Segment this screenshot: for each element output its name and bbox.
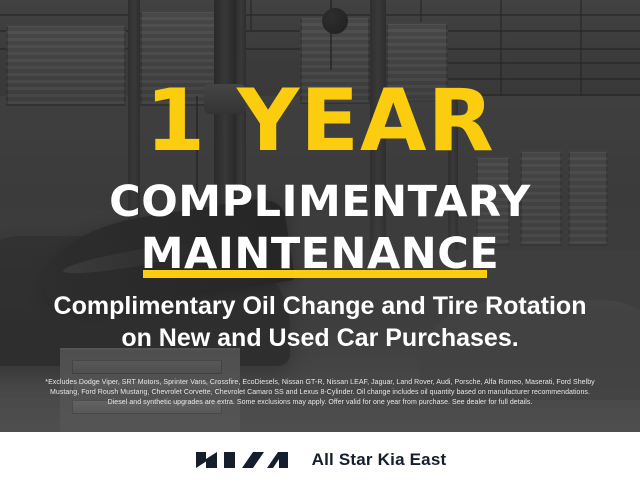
hero-section: 1 YEAR COMPLIMENTARY MAINTENANCE Complim…: [0, 0, 640, 432]
dealer-name: All Star Kia East: [312, 450, 447, 470]
hero-copy: 1 YEAR COMPLIMENTARY MAINTENANCE Complim…: [0, 0, 640, 432]
disclaimer-line-1: *Excludes Dodge Viper, SRT Motors, Sprin…: [14, 378, 626, 388]
headline-offer-line-1: COMPLIMENTARY: [0, 176, 640, 228]
disclaimer-text: *Excludes Dodge Viper, SRT Motors, Sprin…: [14, 378, 626, 408]
promo-description: Complimentary Oil Change and Tire Rotati…: [0, 290, 640, 354]
headline-offer: COMPLIMENTARY MAINTENANCE: [0, 176, 640, 280]
footer-bar: All Star Kia East: [0, 432, 640, 488]
disclaimer-line-2: Mustang, Ford Roush Mustang, Chevrolet C…: [14, 388, 626, 398]
kia-logo: [194, 448, 290, 472]
promo-description-line-2: on New and Used Car Purchases.: [0, 322, 640, 354]
promo-banner: 1 YEAR COMPLIMENTARY MAINTENANCE Complim…: [0, 0, 640, 488]
disclaimer-line-3: Diesel and synthetic upgrades are extra.…: [14, 398, 626, 408]
promo-description-line-1: Complimentary Oil Change and Tire Rotati…: [54, 292, 587, 320]
headline-duration: 1 YEAR: [0, 78, 640, 164]
yellow-divider-rule: [143, 270, 487, 278]
